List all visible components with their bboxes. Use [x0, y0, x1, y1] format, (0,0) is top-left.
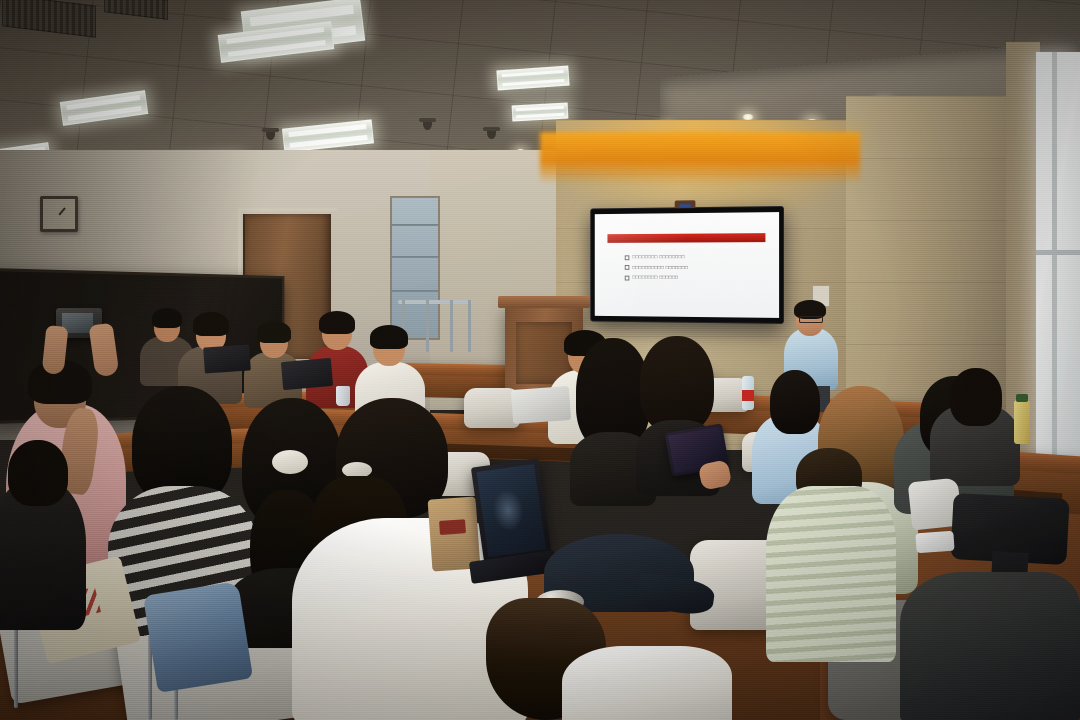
photograph-scene: □□□□□□□□ □□□□□□□□ □□□□□□□□□□ □□□□□□□ □□□… — [0, 0, 1080, 720]
laptop[interactable] — [511, 386, 571, 424]
glasses-icon — [799, 316, 823, 323]
ceiling-speaker-icon — [266, 128, 275, 140]
laptop-screen-glow — [490, 487, 526, 533]
bottle-label — [742, 390, 754, 401]
attendee-hair — [8, 440, 68, 506]
list-item: □□□□□□□□ □□□□□□ — [625, 275, 764, 281]
window-mullion — [1052, 52, 1057, 472]
slide-bullet-list: □□□□□□□□ □□□□□□□□ □□□□□□□□□□ □□□□□□□ □□□… — [625, 254, 764, 285]
attendee-body — [766, 486, 896, 662]
slide-content: □□□□□□□□ □□□□□□□□ □□□□□□□□□□ □□□□□□□ □□□… — [595, 212, 779, 318]
green-striped-jacket-attendee — [766, 448, 896, 658]
ceiling-speaker-icon — [423, 118, 432, 130]
bullet-icon — [625, 265, 630, 270]
bullet-icon — [625, 255, 630, 260]
attendee-hair — [370, 325, 408, 349]
slide-line-text: □□□□□□□□□□ □□□□□□□ — [632, 265, 688, 271]
laptop[interactable] — [203, 344, 251, 373]
cove-light-strip — [540, 132, 860, 184]
attendee-hair — [319, 311, 355, 334]
attendee-hair — [193, 312, 229, 336]
attendee-hair — [950, 368, 1002, 426]
tablet-user-hand — [698, 459, 733, 491]
slide-line-text: □□□□□□□□ □□□□□□□□ — [632, 255, 685, 261]
camera-icon — [675, 200, 696, 208]
ceiling-light-icon — [512, 103, 569, 122]
attendee-hair — [257, 321, 291, 343]
slide-accent-bar — [607, 233, 766, 242]
bullet-icon — [625, 276, 630, 281]
presentation-display[interactable]: □□□□□□□□ □□□□□□□□ □□□□□□□□□□ □□□□□□□ □□□… — [590, 206, 784, 324]
water-bottle — [742, 376, 754, 410]
bottle-cap-icon — [1016, 394, 1028, 402]
ceiling-speaker-icon — [487, 127, 496, 139]
denim-jacket — [143, 581, 253, 693]
attendee — [0, 440, 86, 620]
window — [1036, 52, 1080, 472]
list-item: □□□□□□□□ □□□□□□□□ — [625, 254, 764, 260]
slide-line-text: □□□□□□□□ □□□□□□ — [632, 275, 678, 281]
attendee — [930, 368, 1020, 478]
attendee — [900, 548, 1080, 720]
lectern-top — [498, 296, 590, 308]
attendee-hair — [640, 336, 714, 432]
khaki-bag — [428, 496, 481, 571]
bag-badge-icon — [439, 519, 466, 535]
window-transom — [1036, 250, 1080, 255]
attendee-body — [562, 646, 732, 720]
laptop[interactable] — [281, 358, 333, 390]
attendee-body — [900, 572, 1080, 720]
cap-attendee — [486, 534, 726, 720]
tea-bottle — [1014, 400, 1030, 444]
list-item: □□□□□□□□□□ □□□□□□□ — [625, 265, 764, 271]
